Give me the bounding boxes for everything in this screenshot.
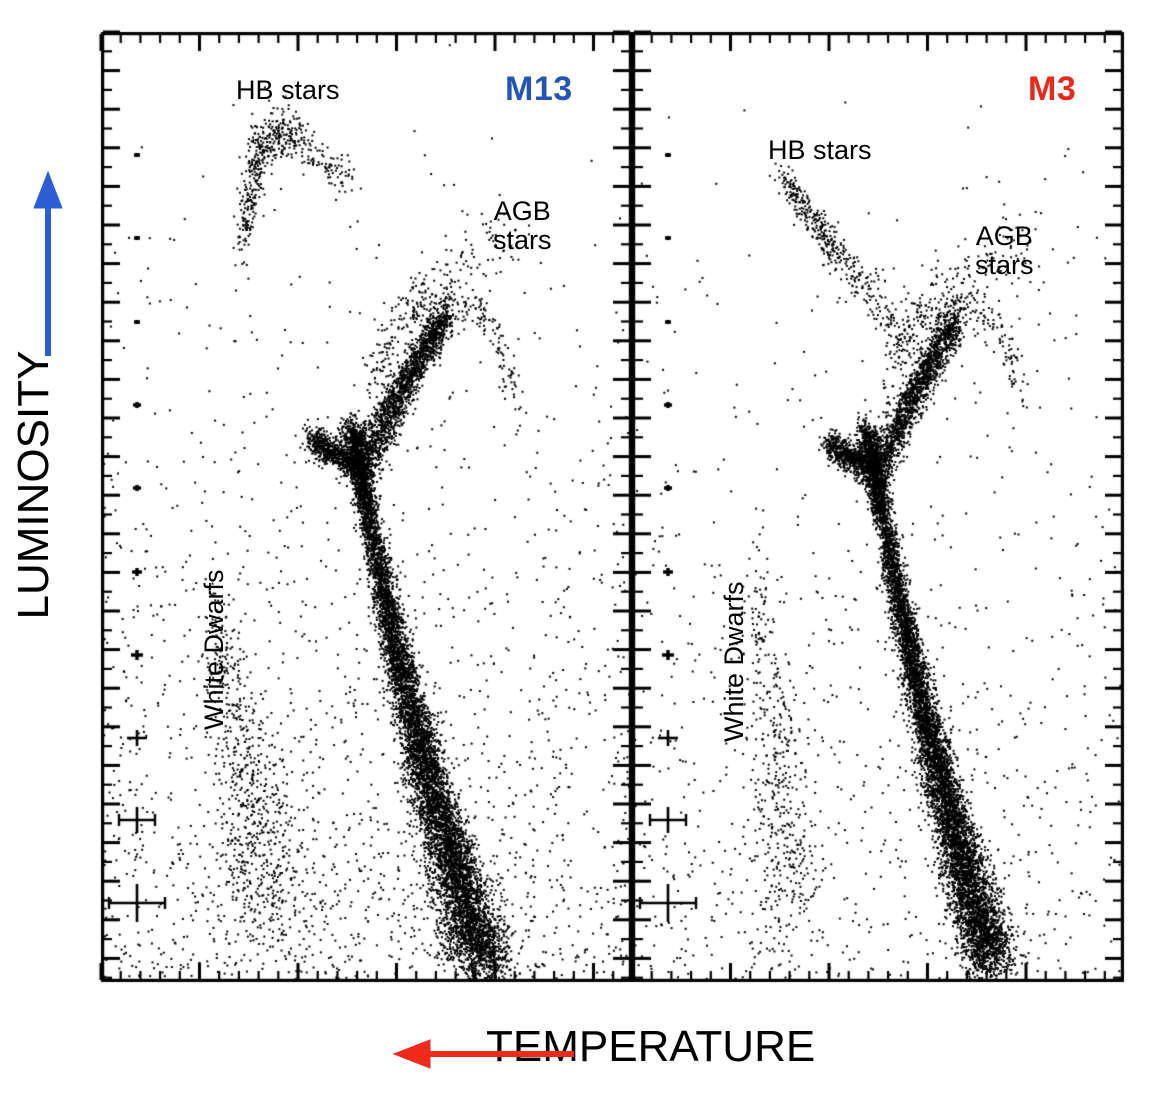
- agb-stars-label-right: AGBstars: [975, 222, 1034, 280]
- cmd-scatter-plot-canvas: [0, 0, 1164, 1096]
- white-dwarfs-label-right: White Dwarfs: [720, 581, 749, 742]
- temperature-left-arrow-icon: [388, 1034, 578, 1074]
- luminosity-up-arrow-icon: [28, 168, 68, 358]
- hb-stars-label-right: HB stars: [768, 136, 872, 165]
- hb-stars-label-left: HB stars: [236, 76, 340, 105]
- cluster-label-m3: M3: [1028, 70, 1076, 109]
- color-magnitude-figure: HB stars AGBstars White Dwarfs M13 HB st…: [0, 0, 1164, 1096]
- agb-stars-label-left: AGBstars: [493, 197, 552, 255]
- cluster-label-m13: M13: [505, 70, 573, 109]
- white-dwarfs-label-left: White Dwarfs: [200, 569, 229, 730]
